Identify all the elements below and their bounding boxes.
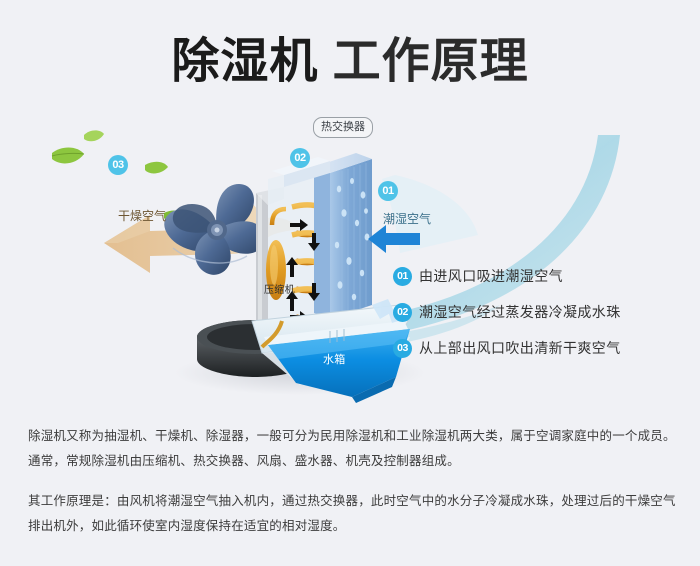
step-number-badge: 01 bbox=[393, 267, 412, 286]
evaporator bbox=[314, 153, 372, 319]
humid-air-label: 潮湿空气 bbox=[383, 210, 431, 227]
compressor-label: 压缩机 bbox=[264, 281, 295, 296]
page-title: 除湿机 工作原理 bbox=[0, 33, 700, 91]
diagram-badge-03: 03 bbox=[108, 155, 128, 175]
page-title-part2: 工作原理 bbox=[333, 35, 529, 88]
heat-exchanger-callout: 热交换器 bbox=[313, 117, 373, 138]
diagram-badge-02: 02 bbox=[290, 148, 310, 168]
water-tank-label: 水箱 bbox=[323, 351, 346, 367]
list-item: 01 由进风口吸进潮湿空气 bbox=[393, 258, 693, 294]
dry-air-label: 干燥空气 bbox=[118, 207, 166, 224]
description-section: 除湿机又称为抽湿机、干燥机、除湿器，一般可分为民用除湿机和工业除湿机两大类，属于… bbox=[28, 424, 678, 539]
list-item: 02 潮湿空气经过蒸发器冷凝成水珠 bbox=[393, 294, 693, 330]
description-paragraph-1: 除湿机又称为抽湿机、干燥机、除湿器，一般可分为民用除湿机和工业除湿机两大类，属于… bbox=[28, 424, 678, 474]
step-text: 从上部出风口吹出清新干爽空气 bbox=[419, 338, 621, 358]
step-text: 由进风口吸进潮湿空气 bbox=[419, 266, 563, 286]
page-root: 除湿机 工作原理 bbox=[0, 0, 700, 566]
page-title-part1: 除湿机 bbox=[171, 35, 318, 88]
step-number-badge: 03 bbox=[393, 339, 412, 358]
step-number-badge: 02 bbox=[393, 303, 412, 322]
principle-steps-list: 01 由进风口吸进潮湿空气 02 潮湿空气经过蒸发器冷凝成水珠 03 从上部出风… bbox=[393, 258, 693, 366]
step-text: 潮湿空气经过蒸发器冷凝成水珠 bbox=[419, 302, 621, 322]
list-item: 03 从上部出风口吹出清新干爽空气 bbox=[393, 330, 693, 366]
fan-illustration bbox=[164, 184, 265, 275]
description-paragraph-2: 其工作原理是：由风机将潮湿空气抽入机内，通过热交换器，此时空气中的水分子冷凝成水… bbox=[28, 489, 678, 539]
diagram-badge-01: 01 bbox=[378, 181, 398, 201]
